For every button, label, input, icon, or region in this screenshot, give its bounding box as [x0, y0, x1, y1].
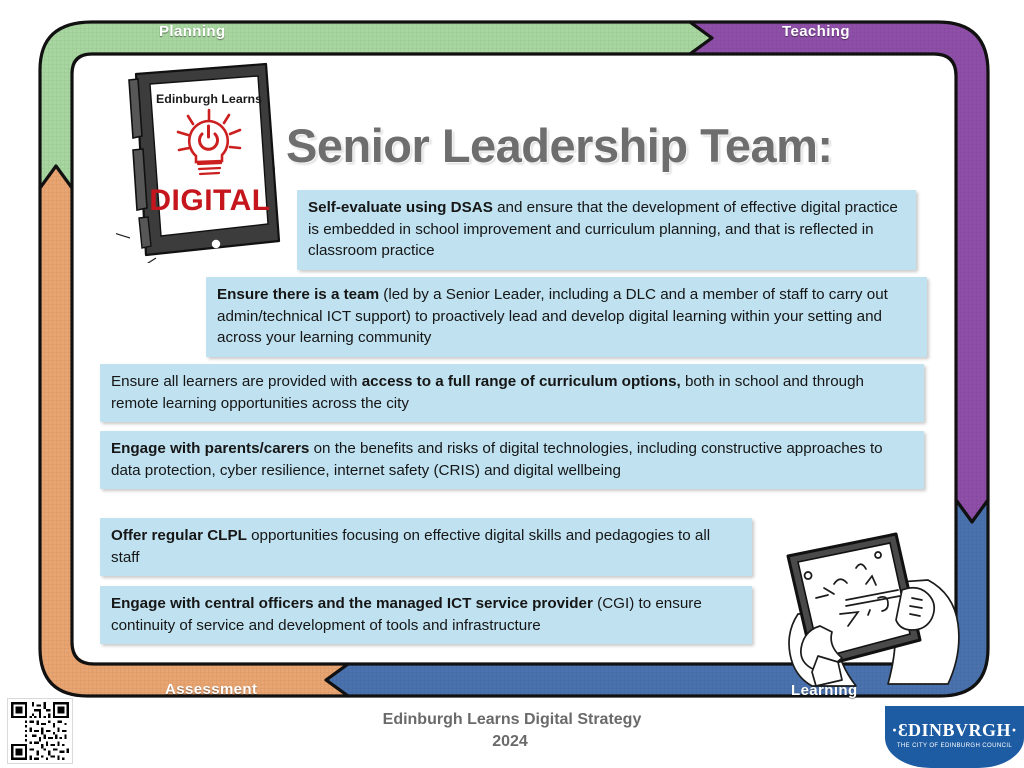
council-logo-name: ·ƐDINBVRGH· [885, 720, 1024, 741]
edinburgh-council-logo: ·ƐDINBVRGH· THE CITY OF EDINBURGH COUNCI… [885, 706, 1024, 768]
cycle-label-teaching: Teaching [782, 23, 850, 40]
callout-bold-lead: access to a full range of curriculum opt… [362, 373, 681, 390]
tablet-digital-word: DIGITAL [149, 184, 270, 217]
qr-code[interactable] [7, 698, 73, 764]
footer-line-2: 2024 [0, 731, 1024, 753]
hands-holding-tablet-illustration [778, 528, 963, 688]
callout-engage-central-officers: Engage with central officers and the man… [100, 586, 752, 644]
cycle-label-planning: Planning [159, 23, 226, 40]
cycle-label-assessment: Assessment [165, 681, 257, 698]
council-logo-subtitle: THE CITY OF EDINBURGH COUNCIL [885, 742, 1024, 749]
callout-bold-lead: Self-evaluate using DSAS [308, 199, 493, 216]
page-title: Senior Leadership Team: [286, 118, 833, 173]
callout-bold-lead: Offer regular CLPL [111, 527, 247, 544]
callout-ensure-team: Ensure there is a team (led by a Senior … [206, 277, 927, 357]
slide-canvas: Planning Teaching Assessment Learning Ed… [0, 0, 1024, 768]
callout-bold-lead: Engage with central officers and the man… [111, 595, 593, 612]
callout-bold-lead: Ensure there is a team [217, 286, 379, 303]
callout-bold-lead: Engage with parents/carers [111, 440, 309, 457]
callout-curriculum-options: Ensure all learners are provided with ac… [100, 364, 924, 422]
callout-engage-parents: Engage with parents/carers on the benefi… [100, 431, 924, 489]
edinburgh-learns-digital-tablet: Edinburgh Learns DIGITAL [116, 58, 291, 263]
callout-self-evaluate: Self-evaluate using DSAS and ensure that… [297, 190, 916, 270]
qr-code-icon [11, 702, 69, 760]
tablet-brand-line: Edinburgh Learns [156, 92, 262, 106]
footer-line-1: Edinburgh Learns Digital Strategy [0, 709, 1024, 731]
callout-pre: Ensure all learners are provided with [111, 373, 362, 390]
footer: Edinburgh Learns Digital Strategy 2024 [0, 709, 1024, 752]
callout-offer-clpl: Offer regular CLPL opportunities focusin… [100, 518, 752, 576]
